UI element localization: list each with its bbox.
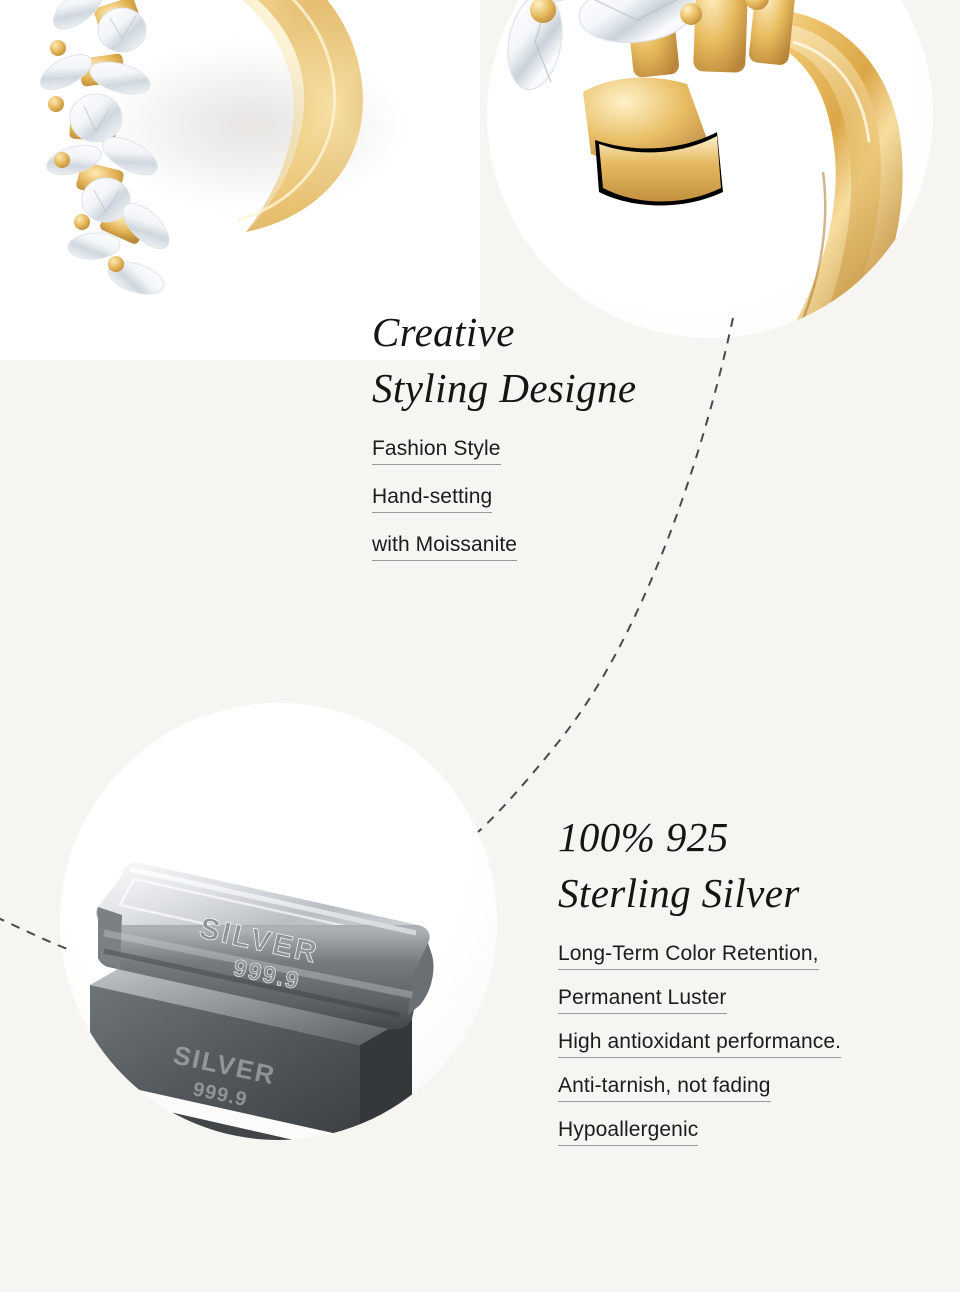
- headline-creative-styling: Creative Styling Designe: [372, 305, 636, 417]
- bullet-permanent-luster: Permanent Luster: [558, 986, 727, 1014]
- bullet-hand-setting: Hand-setting: [372, 485, 492, 513]
- bullet-hypoallergenic: Hypoallergenic: [558, 1118, 698, 1146]
- bullet-with-moissanite: with Moissanite: [372, 533, 517, 561]
- section-sterling-silver: 100% 925 Sterling Silver Long-Term Color…: [558, 810, 841, 1162]
- bullets-sterling-silver: Long-Term Color Retention, Permanent Lus…: [558, 942, 841, 1147]
- bullet-fashion-style: Fashion Style: [372, 437, 501, 465]
- bullet-antioxidant: High antioxidant performance.: [558, 1030, 841, 1058]
- bullet-color-retention: Long-Term Color Retention,: [558, 942, 819, 970]
- poster-canvas: SILVER 999.9: [0, 0, 960, 1292]
- ring-photo-top-right: [487, 0, 933, 338]
- silver-bullion-illustration: SILVER 999.9: [60, 703, 497, 1140]
- bullet-anti-tarnish: Anti-tarnish, not fading: [558, 1074, 771, 1102]
- gold-ring-illustration-right: [487, 0, 933, 338]
- bullets-creative-styling: Fashion Style Hand-setting with Moissani…: [372, 437, 636, 561]
- section-creative-styling: Creative Styling Designe Fashion Style H…: [372, 305, 636, 581]
- silver-bars-photo: SILVER 999.9: [60, 703, 497, 1140]
- headline-sterling-silver: 100% 925 Sterling Silver: [558, 810, 841, 922]
